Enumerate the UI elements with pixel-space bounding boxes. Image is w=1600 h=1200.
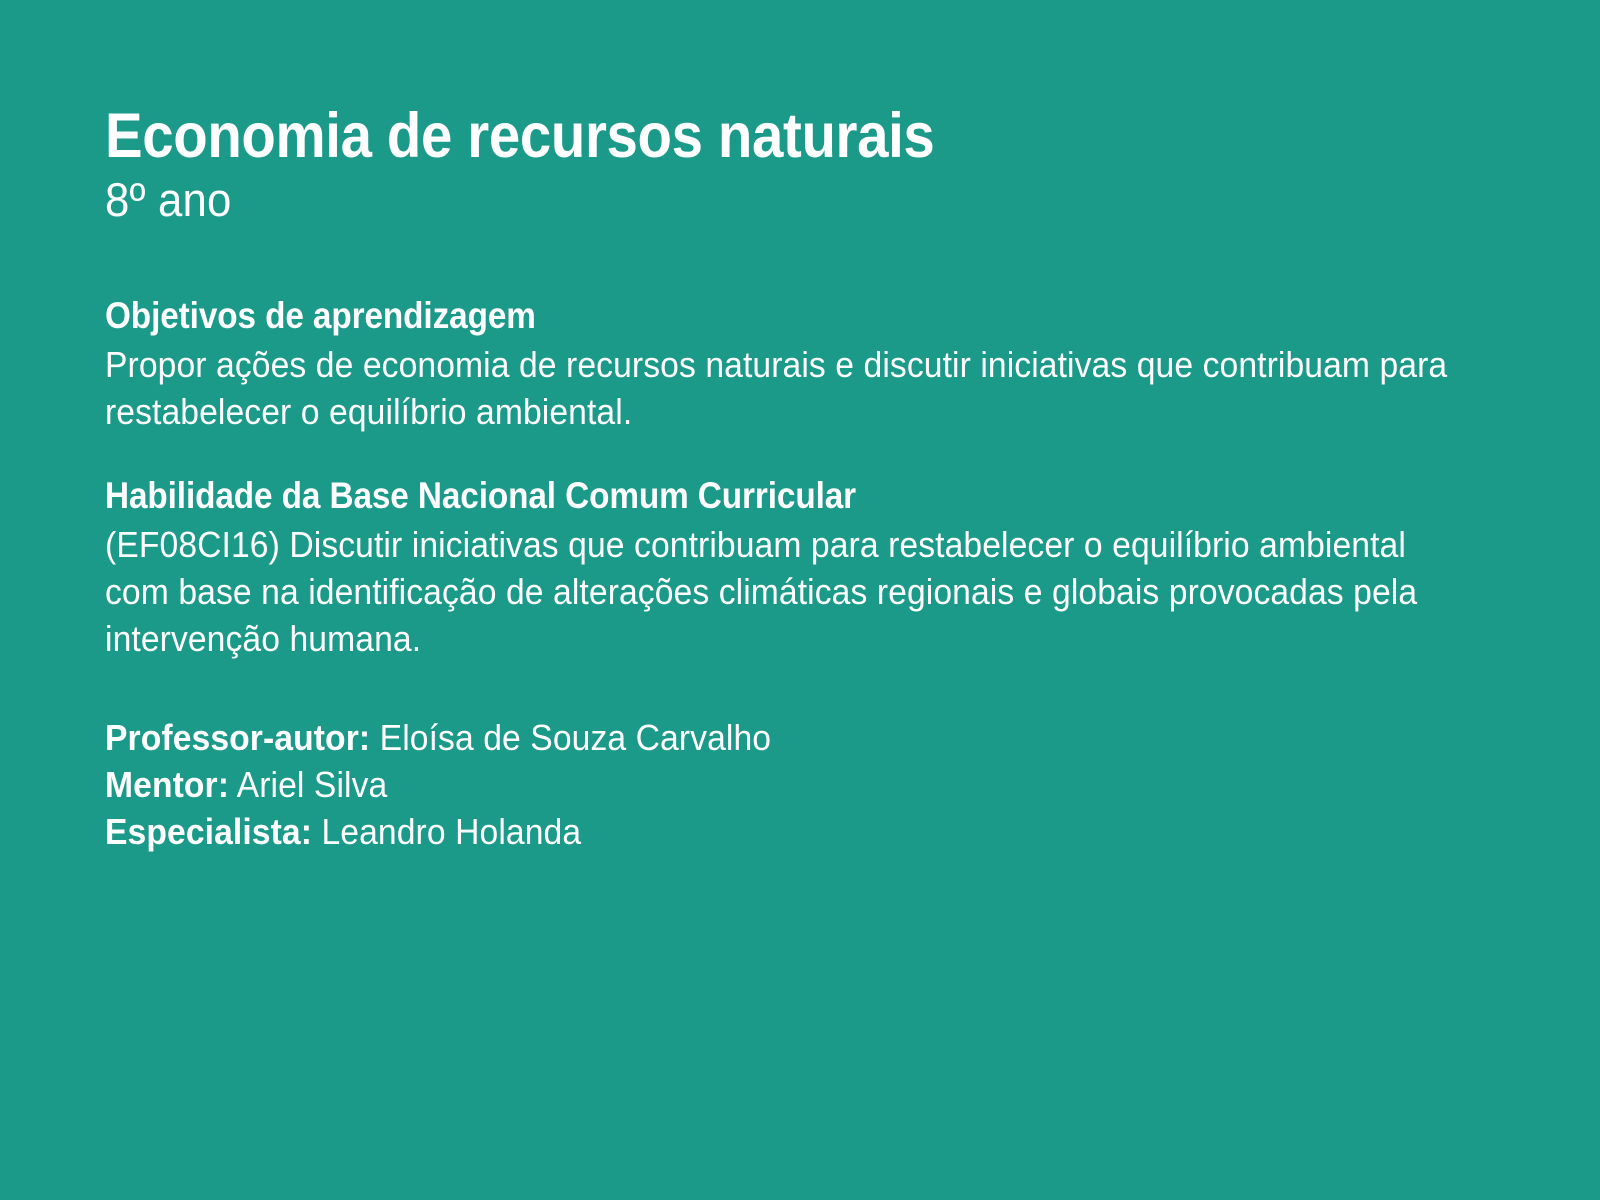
section-body-objetivos: Propor ações de economia de recursos nat… xyxy=(105,341,1463,435)
credit-label-professor-autor: Professor-autor: xyxy=(105,717,370,758)
title-block: Economia de recursos naturais 8º ano xyxy=(105,104,1440,227)
credit-label-especialista: Especialista: xyxy=(105,811,312,852)
section-habilidade-bncc: Habilidade da Base Nacional Comum Curric… xyxy=(105,473,1440,662)
credit-label-mentor: Mentor: xyxy=(105,764,229,805)
credit-value-especialista: Leandro Holanda xyxy=(321,811,581,852)
credit-row-especialista: Especialista: Leandro Holanda xyxy=(105,808,1353,855)
page-title: Economia de recursos naturais xyxy=(105,104,1300,168)
slide-root: Economia de recursos naturais 8º ano Obj… xyxy=(0,0,1600,1200)
section-objetivos: Objetivos de aprendizagem Propor ações d… xyxy=(105,293,1440,435)
credit-row-mentor: Mentor: Ariel Silva xyxy=(105,761,1353,808)
section-body-habilidade-bncc: (EF08CI16) Discutir iniciativas que cont… xyxy=(105,521,1463,662)
section-heading-objetivos: Objetivos de aprendizagem xyxy=(105,293,1307,338)
section-heading-habilidade-bncc: Habilidade da Base Nacional Comum Curric… xyxy=(105,473,1307,518)
page-subtitle: 8º ano xyxy=(105,174,1347,227)
credit-row-professor-autor: Professor-autor: Eloísa de Souza Carvalh… xyxy=(105,714,1353,761)
credit-value-professor-autor: Eloísa de Souza Carvalho xyxy=(380,717,771,758)
credit-value-mentor: Ariel Silva xyxy=(237,764,388,805)
credits-block: Professor-autor: Eloísa de Souza Carvalh… xyxy=(105,714,1353,855)
